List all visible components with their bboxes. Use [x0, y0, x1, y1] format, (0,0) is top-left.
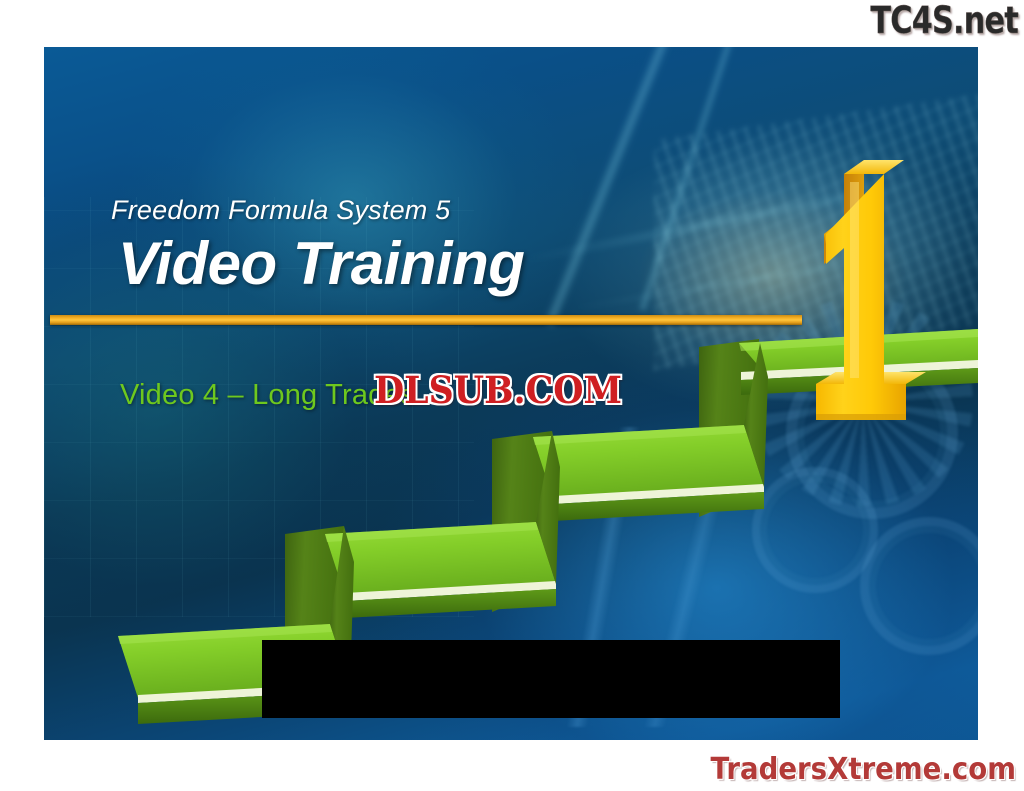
slide-subtitle: Video 4 – Long Trades — [120, 379, 416, 412]
gear-icon — [786, 347, 958, 519]
gold-divider-rule — [50, 315, 802, 325]
site-watermark-center: DLSUB.COM — [374, 372, 622, 409]
light-streak-icon — [543, 47, 680, 328]
slide-title: Video Training — [118, 229, 524, 298]
site-watermark-bottom: TradersXtreme.com — [711, 755, 1016, 785]
light-streak-icon — [638, 47, 739, 311]
site-watermark-top: TC4S.net — [870, 2, 1018, 39]
slide-eyebrow-text: Freedom Formula System 5 — [111, 195, 450, 226]
numeral-one-graphic: 1 — [786, 152, 946, 422]
staircase-step-4 — [699, 329, 978, 517]
gear-icon — [860, 517, 978, 655]
light-streak-icon — [517, 177, 931, 265]
presentation-slide: 1 Freedom Formula System 5 Video Trainin… — [44, 47, 978, 740]
redaction-bar — [262, 640, 840, 718]
gear-teeth-icon — [753, 297, 973, 507]
page-canvas: TC4S.net — [0, 0, 1024, 791]
light-streak-icon — [566, 247, 942, 311]
keyboard-backdrop-image — [654, 94, 978, 370]
gear-icon — [752, 467, 878, 593]
